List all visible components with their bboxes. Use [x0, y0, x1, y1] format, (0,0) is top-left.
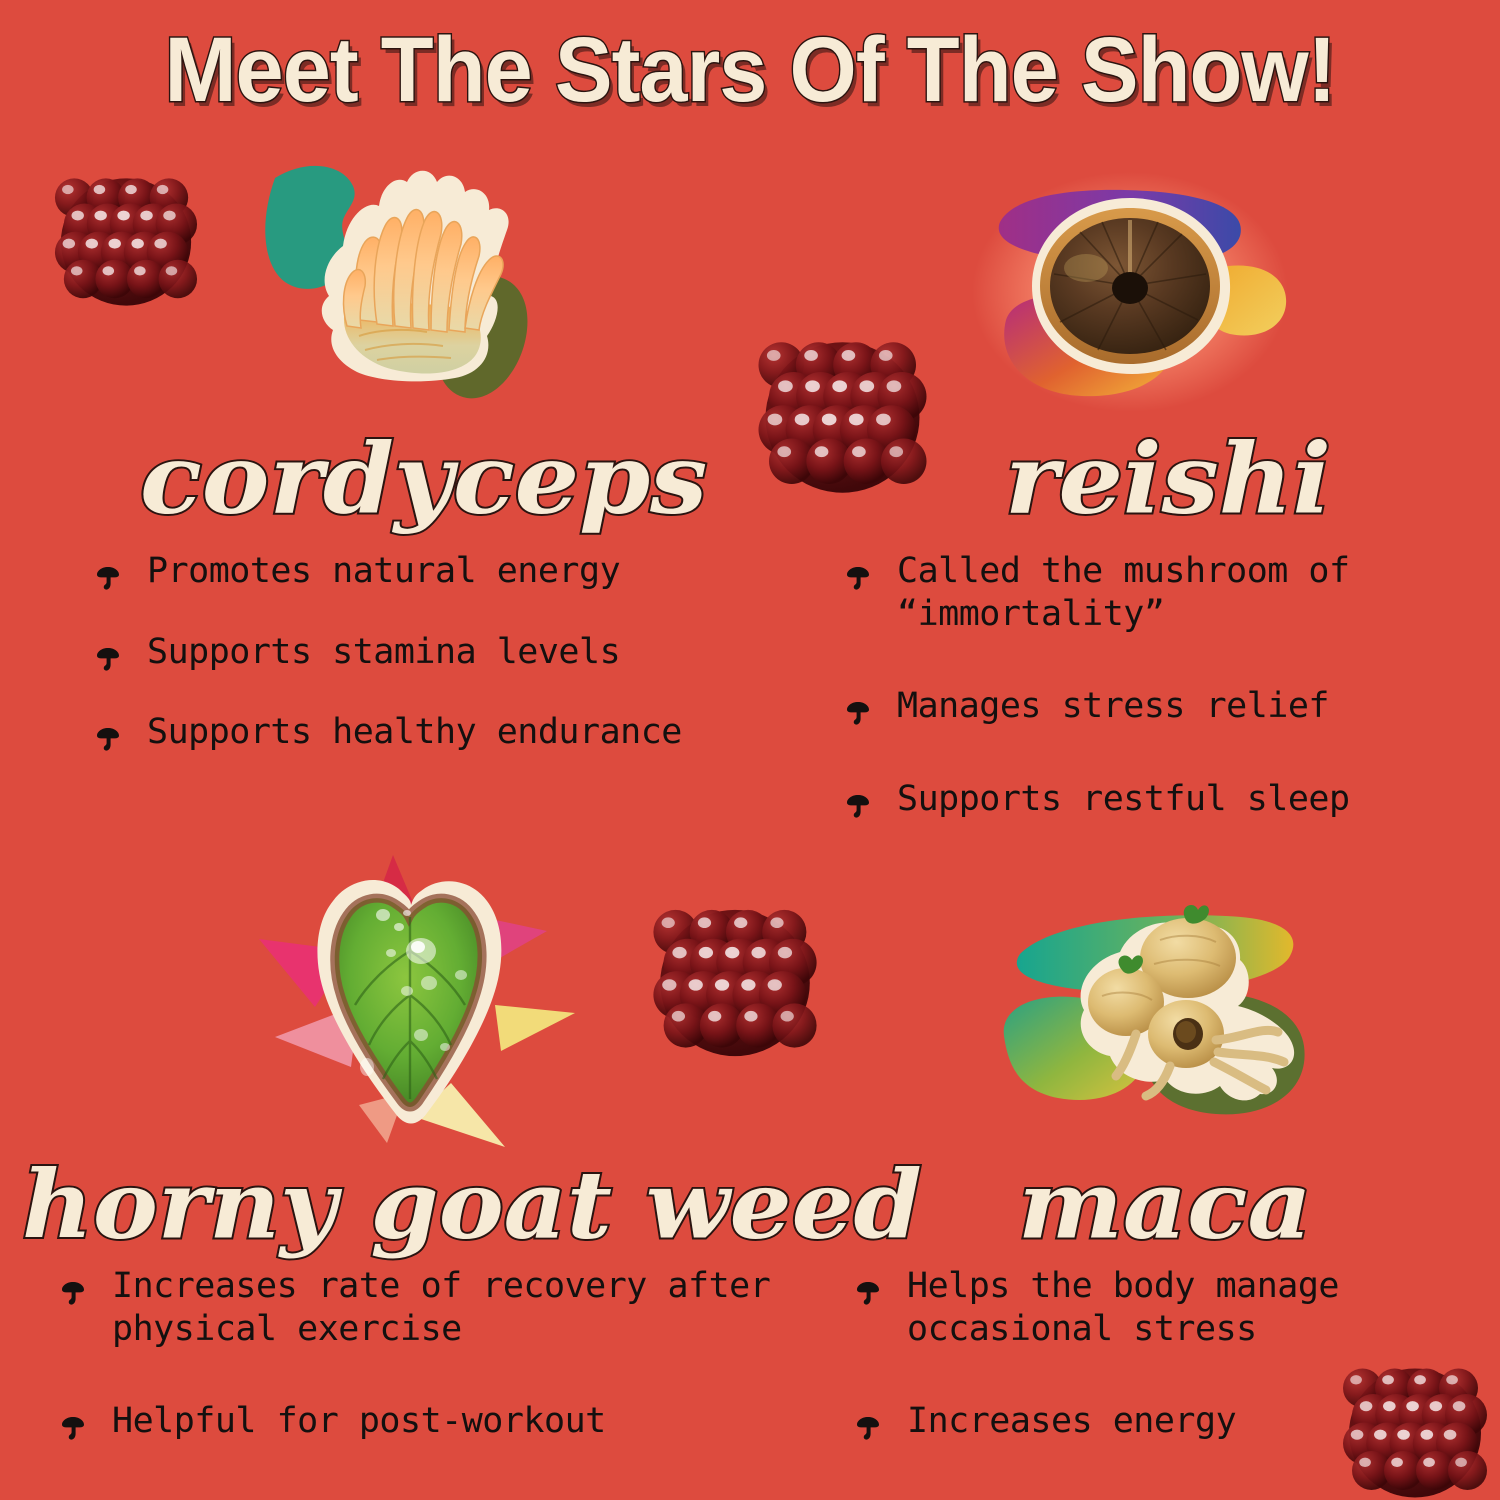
reishi-mushroom-icon: [970, 170, 1290, 420]
list-item: Helpful for post-workout: [60, 1400, 820, 1443]
list-item-text: Manages stress relief: [897, 686, 1329, 726]
maca-root-icon: [990, 900, 1320, 1130]
benefits-list-horny-goat-weed: Increases rate of recovery after physica…: [60, 1265, 820, 1493]
list-item-text: Promotes natural energy: [147, 551, 620, 591]
list-item-text: Helpful for post-workout: [112, 1401, 606, 1441]
list-item-text: Increases energy: [907, 1401, 1236, 1441]
benefits-list-cordyceps: Promotes natural energy Supports stamina…: [95, 550, 795, 792]
gummy-berry-top-left: [52, 168, 200, 316]
mushroom-icon: [95, 720, 121, 746]
mushroom-icon: [845, 787, 871, 813]
mushroom-icon: [60, 1274, 86, 1300]
mushroom-icon: [855, 1409, 881, 1435]
list-item: Supports restful sleep: [845, 778, 1500, 821]
list-item-text: Supports stamina levels: [147, 632, 620, 672]
mushroom-icon: [60, 1409, 86, 1435]
cordyceps-mushroom-icon: [255, 160, 575, 430]
mushroom-icon: [845, 694, 871, 720]
mushroom-icon: [845, 559, 871, 585]
maca-collage: [990, 900, 1320, 1130]
list-item-text: Helps the body manage occasional stress: [907, 1266, 1339, 1349]
mushroom-icon: [95, 559, 121, 585]
list-item: Supports stamina levels: [95, 631, 795, 674]
list-item-text: Supports healthy endurance: [147, 712, 682, 752]
cordyceps-collage: [255, 160, 575, 430]
list-item: Supports healthy endurance: [95, 711, 795, 754]
list-item: Manages stress relief: [845, 685, 1500, 728]
heading-cordyceps: cordyceps: [140, 432, 707, 528]
mushroom-icon: [95, 640, 121, 666]
benefits-list-reishi: Called the mushroom of “immortality” Man…: [845, 550, 1500, 871]
leaf-icon: [255, 855, 585, 1155]
list-item: Helps the body manage occasional stress: [855, 1265, 1500, 1350]
list-item: Called the mushroom of “immortality”: [845, 550, 1500, 635]
reishi-collage: [970, 170, 1290, 420]
mushroom-icon: [855, 1274, 881, 1300]
list-item-text: Called the mushroom of “immortality”: [897, 551, 1350, 634]
gummy-berry-bottom-right: [1340, 1358, 1490, 1500]
heading-reishi: reishi: [1005, 432, 1331, 528]
gummy-berry-center-mid: [650, 898, 820, 1068]
heading-horny-goat-weed: horny goat weed: [22, 1158, 922, 1252]
list-item-text: Supports restful sleep: [897, 779, 1350, 819]
list-item: Increases rate of recovery after physica…: [60, 1265, 820, 1350]
list-item-text: Increases rate of recovery after physica…: [112, 1266, 770, 1349]
heading-maca: maca: [1018, 1158, 1312, 1252]
horny-goat-weed-collage: [255, 855, 585, 1155]
list-item: Promotes natural energy: [95, 550, 795, 593]
gummy-berry-center-top: [755, 330, 930, 505]
